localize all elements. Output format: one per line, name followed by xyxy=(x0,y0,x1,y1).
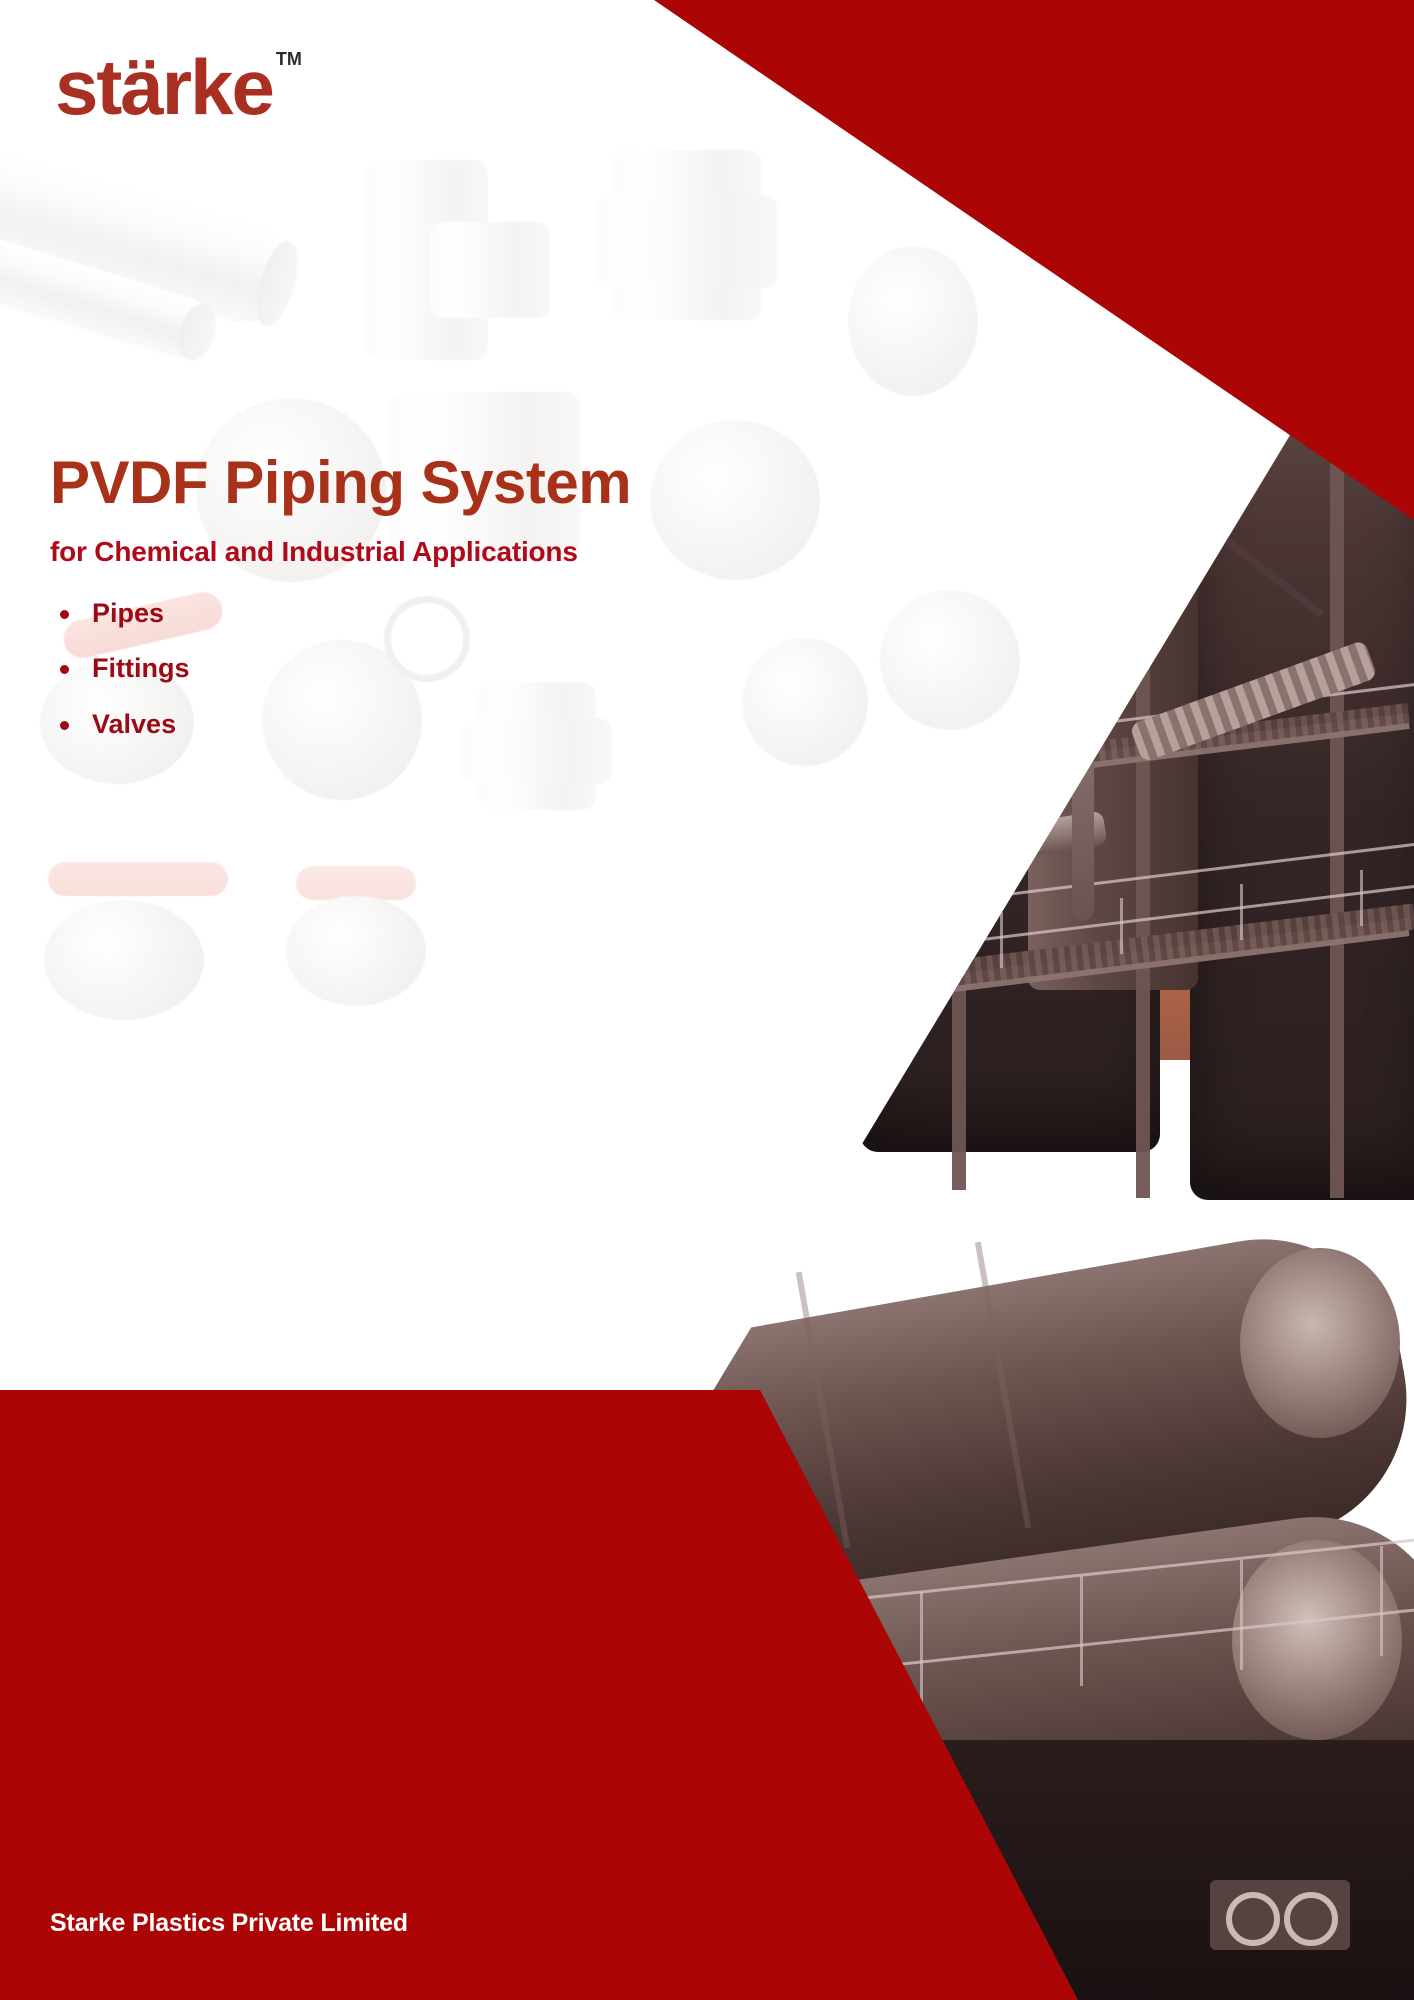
handrail-post xyxy=(920,1592,923,1702)
vessel-end-cap xyxy=(1240,1248,1400,1438)
list-item: Fittings xyxy=(50,654,631,684)
diaphragm-handwheel-watermark xyxy=(296,866,416,900)
handrail-post xyxy=(1240,1560,1243,1670)
pipe-watermark xyxy=(0,126,305,334)
company-name-footer: Starke Plastics Private Limited xyxy=(50,1909,408,1938)
pipe-cap-watermark xyxy=(848,246,978,396)
handwheel-icon xyxy=(1226,1892,1280,1946)
handrail-post xyxy=(760,940,763,996)
starke-logo: stärkeTM xyxy=(55,48,299,126)
lower-ball-valve-body-watermark xyxy=(44,900,204,1020)
list-item: Pipes xyxy=(50,599,631,629)
trademark-symbol: TM xyxy=(276,49,302,69)
flange-watermark xyxy=(650,420,820,580)
brochure-cover: stärkeTM PVDF Piping System for Chemical… xyxy=(0,0,1414,2000)
union-fitting-watermark xyxy=(612,150,762,320)
steel-column xyxy=(1330,348,1344,1198)
handrail-post xyxy=(1000,912,1003,968)
list-item: Valves xyxy=(50,710,631,740)
steel-column xyxy=(1136,398,1150,1198)
handwheel-icon xyxy=(1284,1892,1338,1946)
process-pipe xyxy=(554,838,882,967)
top-right-red-wedge xyxy=(654,0,1414,520)
union-collar-watermark xyxy=(596,196,778,288)
diaphragm-valve-body-watermark xyxy=(286,896,426,1006)
handrail-post xyxy=(1360,870,1363,926)
steel-column xyxy=(952,470,966,1190)
pipe-end-watermark xyxy=(742,638,868,766)
logo-wordmark: stärke xyxy=(55,43,273,131)
cone-reducer-watermark xyxy=(880,590,1020,730)
tee-fitting-watermark xyxy=(366,160,488,360)
steel-brace xyxy=(798,641,945,758)
page-title: PVDF Piping System xyxy=(50,452,631,514)
hero-block: PVDF Piping System for Chemical and Indu… xyxy=(50,452,631,766)
vertical-riser xyxy=(1072,400,1094,920)
product-category-list: Pipes Fittings Valves xyxy=(50,599,631,740)
handrail-post xyxy=(1380,1546,1383,1656)
handrail-post xyxy=(1240,884,1243,940)
page-subtitle: for Chemical and Industrial Applications xyxy=(50,536,631,568)
pipe-elbow xyxy=(567,877,772,1082)
steel-column xyxy=(782,560,796,1180)
t-handle-watermark xyxy=(48,862,228,896)
handrail-post xyxy=(1120,898,1123,954)
handrail-post xyxy=(880,926,883,982)
vessel-end-cap xyxy=(1232,1540,1402,1740)
tee-fitting-branch-watermark xyxy=(430,222,550,318)
pipe-watermark xyxy=(0,196,221,366)
steel-brace xyxy=(998,561,1145,678)
handrail-post xyxy=(1080,1576,1083,1686)
